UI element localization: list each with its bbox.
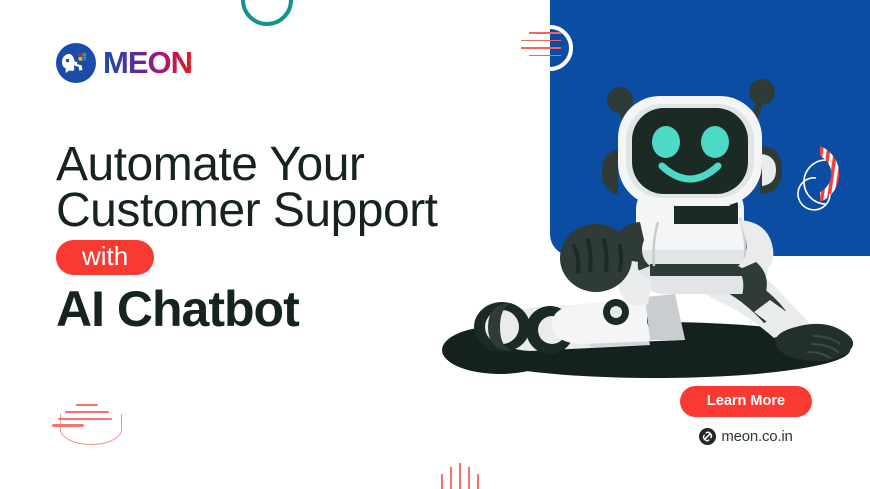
red-vertical-bars-icon xyxy=(441,462,479,489)
headline-line-1: Automate Your xyxy=(56,142,438,188)
learn-more-button[interactable]: Learn More xyxy=(680,386,812,417)
website-text: meon.co.in xyxy=(721,428,792,445)
headline-block: Automate Your Customer Support with AI C… xyxy=(56,142,438,335)
headline-line-2: Customer Support xyxy=(56,188,438,234)
ai-chatbot-robot-illustration xyxy=(440,50,870,390)
with-badge: with xyxy=(56,240,154,275)
red-lines-bottom-left-icon xyxy=(52,404,132,430)
website-link[interactable]: meon.co.in xyxy=(680,428,812,445)
meon-wordmark: MEON xyxy=(103,46,229,80)
headline-line-3: AI Chatbot xyxy=(56,283,438,335)
banner-root: MEON Automate Your Customer Support with… xyxy=(0,0,870,489)
teal-circle-icon xyxy=(241,0,293,26)
with-badge-row: with xyxy=(56,240,438,275)
cta-block: Learn More meon.co.in xyxy=(680,386,812,445)
link-chain-icon xyxy=(699,428,716,445)
svg-text:MEON: MEON xyxy=(103,46,192,80)
meon-logo-mark-icon xyxy=(55,42,97,84)
logo[interactable]: MEON xyxy=(55,42,229,84)
